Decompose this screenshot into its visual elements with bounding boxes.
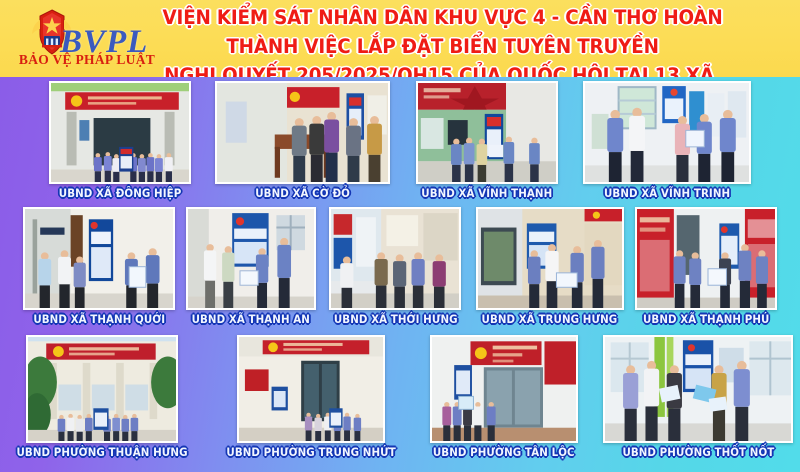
photo-thumbnail[interactable] [583, 81, 751, 184]
organization-logo: BVPL BẢO VỆ PHÁP LUẬT [8, 2, 166, 74]
photo-row-1: UBND XÃ ĐÔNG HIỆP UBND XÃ CỜ ĐỎ [0, 81, 800, 207]
header-band: BVPL BẢO VỆ PHÁP LUẬT VIỆN KIỂM SÁT NHÂN… [0, 0, 800, 77]
photo-caption: UBND XÃ THẠNH QUỚI [33, 313, 165, 326]
photo-grid: UBND XÃ ĐÔNG HIỆP UBND XÃ CỜ ĐỎ [0, 77, 800, 472]
photo-card[interactable]: UBND XÃ VĨNH TRINH [583, 81, 751, 200]
photo-caption: UBND XÃ THẠNH AN [192, 313, 310, 326]
photo-card[interactable]: UBND XÃ THỚI HƯNG [327, 207, 465, 326]
photo-caption: UBND PHƯỜNG THUẬN HƯNG [17, 446, 188, 459]
photo-card[interactable]: UBND XÃ ĐÔNG HIỆP [49, 81, 191, 200]
photo-caption: UBND XÃ THẠNH PHÚ [643, 313, 769, 326]
photo-caption: UBND XÃ CỜ ĐỎ [255, 187, 350, 200]
photo-thumbnail[interactable] [476, 207, 624, 310]
photo-card[interactable]: UBND PHƯỜNG THỐT NỐT [603, 335, 793, 459]
photo-card[interactable]: UBND PHƯỜNG TÂN LỘC [425, 335, 582, 459]
photo-card[interactable]: UBND XÃ THẠNH PHÚ [635, 207, 777, 326]
photo-thumbnail[interactable] [215, 81, 390, 184]
photo-caption: UBND PHƯỜNG THỐT NỐT [622, 446, 774, 459]
photo-caption: UBND XÃ THỚI HƯNG [333, 313, 457, 326]
photo-thumbnail[interactable] [635, 207, 777, 310]
photo-thumbnail[interactable] [237, 335, 385, 443]
photo-thumbnail[interactable] [49, 81, 191, 184]
photo-card[interactable]: UBND XÃ VĨNH THẠNH [414, 81, 560, 200]
photo-caption: UBND PHƯỜNG TRUNG NHỨT [227, 446, 396, 459]
infographic-poster: BVPL BẢO VỆ PHÁP LUẬT VIỆN KIỂM SÁT NHÂN… [0, 0, 800, 472]
photo-thumbnail[interactable] [26, 335, 178, 443]
photo-thumbnail[interactable] [603, 335, 793, 443]
photo-card[interactable]: UBND XÃ THẠNH AN [185, 207, 317, 326]
photo-caption: UBND XÃ ĐÔNG HIỆP [58, 187, 181, 200]
photo-card[interactable]: UBND PHƯỜNG TRUNG NHỨT [217, 335, 405, 459]
logo-name: BẢO VỆ PHÁP LUẬT [8, 52, 166, 68]
photo-thumbnail[interactable] [23, 207, 175, 310]
photo-card[interactable]: UBND XÃ THẠNH QUỚI [23, 207, 175, 326]
photo-card[interactable]: UBND PHƯỜNG THUẬN HƯNG [7, 335, 197, 459]
photo-card[interactable]: UBND XÃ CỜ ĐỎ [215, 81, 390, 200]
photo-card[interactable]: UBND XÃ TRUNG HƯNG [474, 207, 625, 326]
photo-caption: UBND PHƯỜNG TÂN LỘC [433, 446, 575, 459]
photo-caption: UBND XÃ VĨNH TRINH [604, 187, 730, 200]
photo-thumbnail[interactable] [416, 81, 558, 184]
photo-thumbnail[interactable] [329, 207, 461, 310]
photo-row-3: UBND PHƯỜNG THUẬN HƯNG UBND PHƯ [0, 335, 800, 470]
photo-thumbnail[interactable] [430, 335, 578, 443]
page-title: VIỆN KIỂM SÁT NHÂN DÂN KHU VỰC 4 - CẦN T… [130, 3, 755, 77]
photo-caption: UBND XÃ VĨNH THẠNH [421, 187, 552, 200]
photo-thumbnail[interactable] [186, 207, 316, 310]
photo-row-2: UBND XÃ THẠNH QUỚI UBND XÃ THẠNH AN [0, 207, 800, 335]
photo-caption: UBND XÃ TRUNG HƯNG [482, 313, 618, 326]
